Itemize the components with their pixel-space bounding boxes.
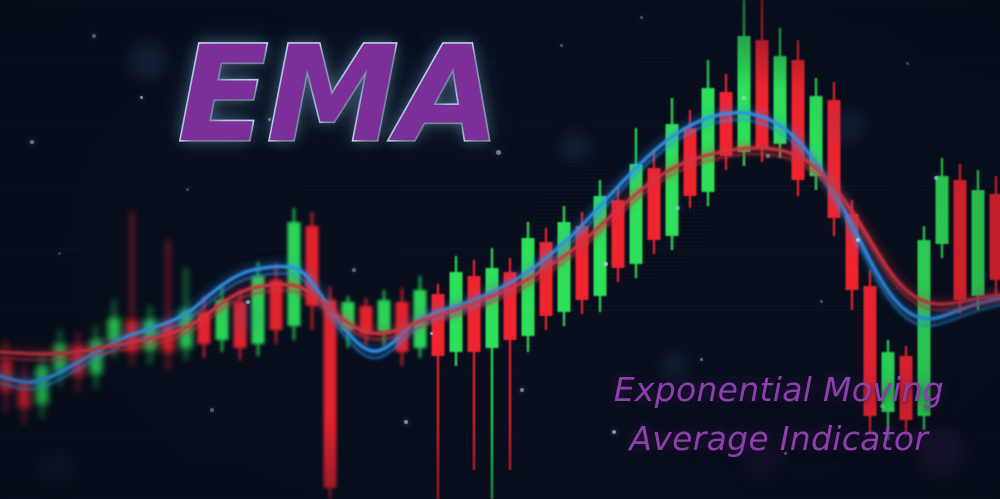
candle xyxy=(936,158,949,258)
candle-group-background xyxy=(0,212,193,424)
candle xyxy=(774,28,787,158)
candle xyxy=(864,270,877,434)
candle xyxy=(954,164,967,314)
candle xyxy=(648,150,661,254)
candle xyxy=(828,82,841,236)
candle xyxy=(738,0,751,166)
candle-group-foreground xyxy=(432,0,1000,499)
candle xyxy=(972,170,985,310)
candle xyxy=(270,264,283,344)
candlestick-chart xyxy=(0,0,1000,499)
candle xyxy=(468,260,481,470)
ema-banner: EMA Exponential Moving Average Indicator xyxy=(0,0,1000,499)
candle xyxy=(990,176,1000,296)
candle xyxy=(882,340,895,440)
candle xyxy=(540,228,553,330)
candle xyxy=(792,40,805,196)
candle xyxy=(900,346,913,436)
candle xyxy=(18,364,31,424)
candle xyxy=(756,0,769,162)
candle xyxy=(162,240,175,370)
candle xyxy=(702,60,715,206)
candle-group-midground xyxy=(198,208,427,499)
candle xyxy=(918,226,931,430)
